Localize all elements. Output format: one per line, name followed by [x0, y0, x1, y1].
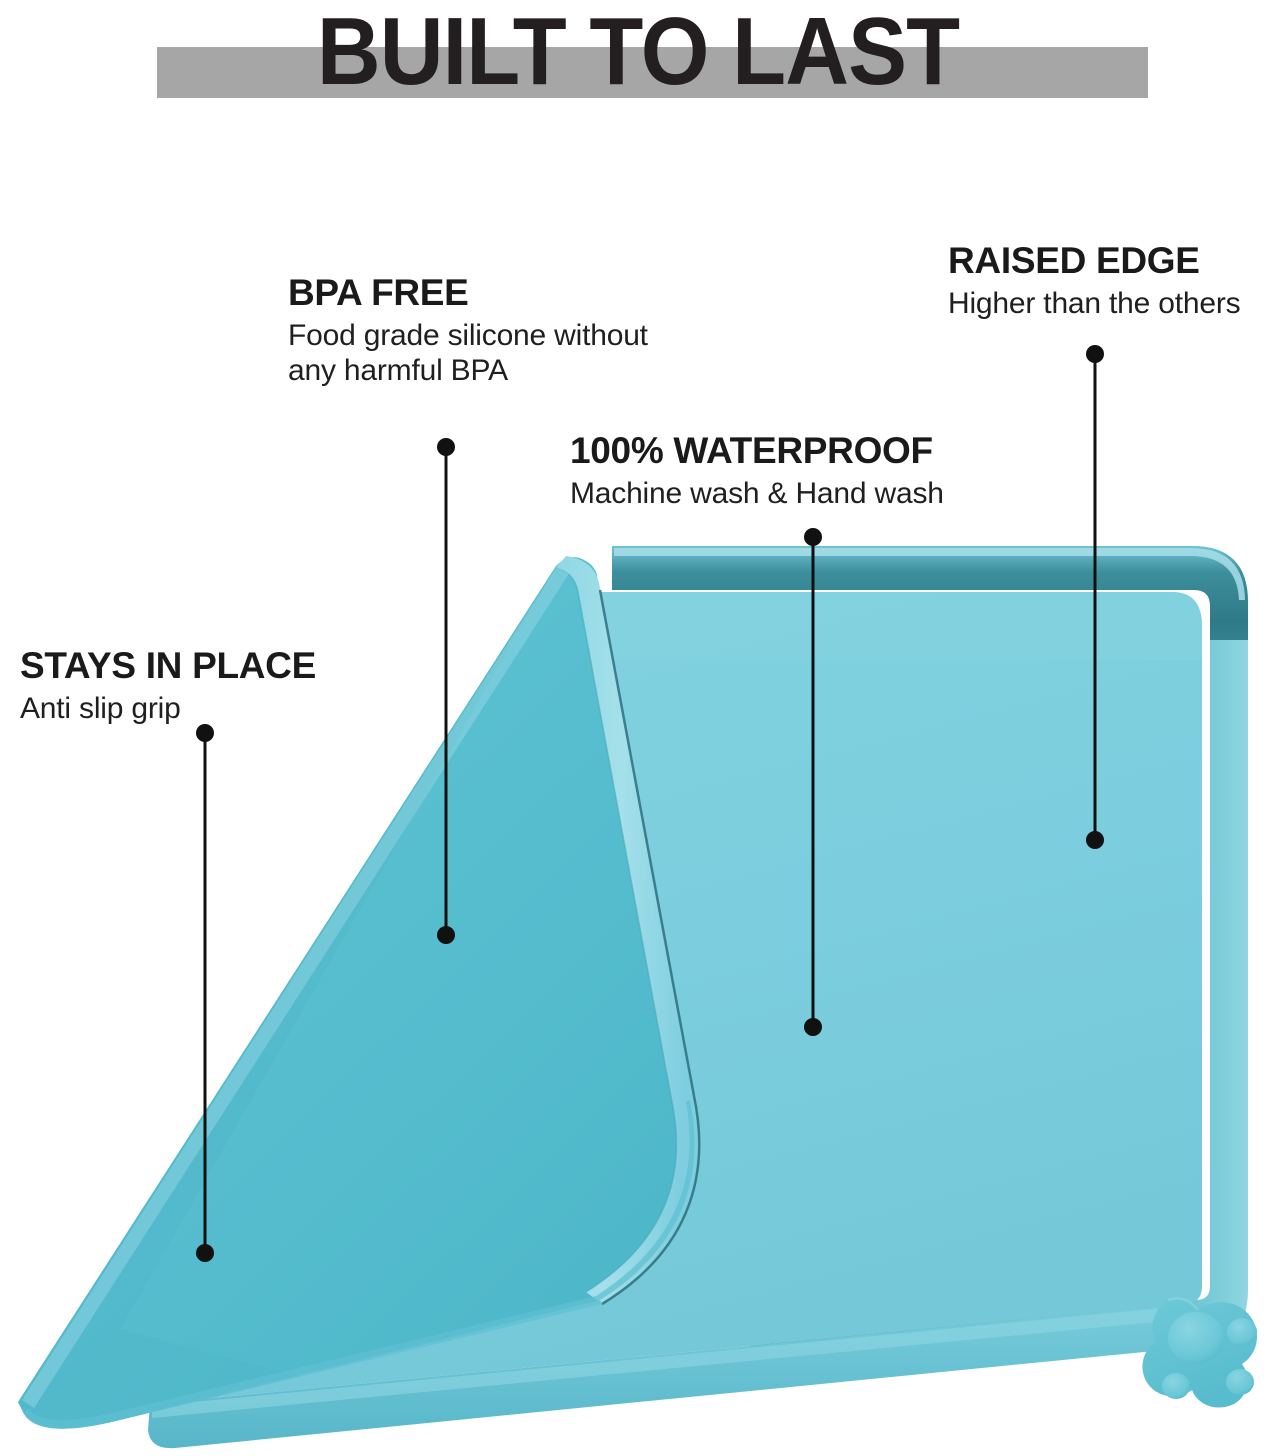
callout-stays-in-place: STAYS IN PLACE Anti slip grip: [20, 645, 316, 726]
callout-raised-edge-subline: Higher than the others: [948, 286, 1240, 321]
callout-bpa-free-subline-1: Food grade silicone without: [288, 318, 648, 353]
callout-waterproof-subline-1: Machine wash & Hand wash: [570, 476, 944, 511]
callout-bpa-free-subline: Food grade silicone without any harmful …: [288, 318, 648, 388]
callout-raised-edge-headline: RAISED EDGE: [948, 240, 1240, 282]
callout-raised-edge-subline-1: Higher than the others: [948, 286, 1240, 321]
callout-stays-in-place-subline-1: Anti slip grip: [20, 691, 316, 726]
callout-waterproof: 100% WATERPROOF Machine wash & Hand wash: [570, 430, 944, 511]
callout-raised-edge: RAISED EDGE Higher than the others: [948, 240, 1240, 321]
callout-bpa-free-headline: BPA FREE: [288, 272, 648, 314]
callout-bpa-free: BPA FREE Food grade silicone without any…: [288, 272, 648, 388]
paw-print-tab: [1142, 1298, 1257, 1407]
callout-waterproof-headline: 100% WATERPROOF: [570, 430, 944, 472]
callout-waterproof-subline: Machine wash & Hand wash: [570, 476, 944, 511]
product-illustration: [0, 0, 1276, 1456]
callout-stays-in-place-subline: Anti slip grip: [20, 691, 316, 726]
callout-bpa-free-subline-2: any harmful BPA: [288, 353, 648, 388]
callout-stays-in-place-headline: STAYS IN PLACE: [20, 645, 316, 687]
